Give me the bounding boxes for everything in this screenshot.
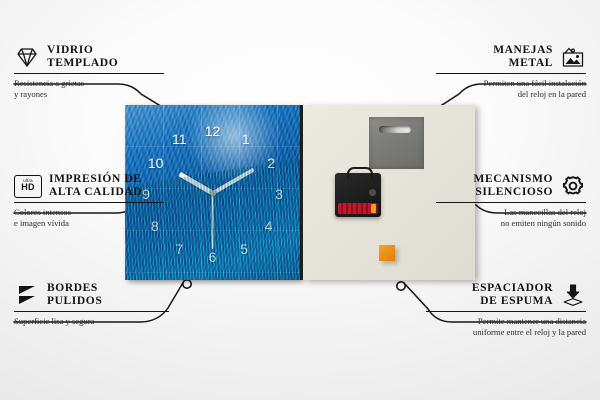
callout-title-line2: ALTA CALIDAD [49,186,142,199]
callout-desc-line1: Permite mantener una distancia [426,316,586,327]
callout-desc-line1: Resistencia a grietas [14,78,164,89]
hour-hand [178,171,213,194]
battery-tip [371,204,376,213]
numeral-1: 1 [242,132,250,146]
node-espaciador [397,282,405,290]
second-hand [212,193,214,249]
callout-desc-line2: del reloj en la pared [436,89,586,100]
callout-mecanismo-silencioso: MECANISMO SILENCIOSO Las manecillas del … [436,173,586,228]
mechanism-hanging-loop [347,167,373,179]
hands-center-cap [210,190,216,196]
callout-manejas-metal: MANEJAS METAL Permiten una fácil instala… [436,44,586,99]
numeral-10: 10 [148,156,164,170]
callout-title-line2: TEMPLADO [47,57,118,70]
callout-rule [14,202,164,203]
callout-desc-line2: y rayones [14,89,164,100]
callout-rule [436,73,586,74]
foam-spacer-arrow-icon [560,283,586,307]
callout-title-line1: ESPACIADOR [426,282,553,295]
numeral-7: 7 [175,242,183,256]
callout-header: VIDRIO TEMPLADO [14,44,164,70]
polished-edges-icon [14,283,40,307]
metal-hanger-plate [369,117,424,169]
callout-header: MECANISMO SILENCIOSO [436,173,586,199]
node-bordes [183,280,191,288]
callout-title-line2: METAL [436,57,553,70]
callout-title-line1: IMPRESIÓN DE [49,173,142,186]
diamond-icon [14,45,40,69]
hanger-keyhole-slot [379,126,411,133]
callout-header: MANEJAS METAL [436,44,586,70]
numeral-4: 4 [265,219,273,233]
product-photo: 12 1 2 3 4 5 6 7 8 9 10 11 [125,105,475,280]
callout-header: ultra HD IMPRESIÓN DE ALTA CALIDAD [14,173,164,199]
wall-hanging-frame-icon [560,45,586,69]
callout-title-line1: BORDES [47,282,102,295]
mechanism-set-dial [369,189,376,196]
callout-title-line2: DE ESPUMA [426,295,553,308]
clock-mechanism-box [335,173,381,217]
callout-impresion-alta-calidad: ultra HD IMPRESIÓN DE ALTA CALIDAD Color… [14,173,164,228]
minute-hand [212,167,255,194]
callout-title-line1: MANEJAS [436,44,553,57]
callout-desc-line1: Colores intensos [14,207,164,218]
callout-desc-line1: Permiten una fácil instalación [436,78,586,89]
infographic-canvas: 12 1 2 3 4 5 6 7 8 9 10 11 [0,0,600,400]
callout-title-line2: PULIDOS [47,295,102,308]
callout-rule [14,73,164,74]
callout-title-line1: MECANISMO [436,173,553,186]
callout-desc-line2: no emiten ningún sonido [436,218,586,229]
numeral-5: 5 [240,242,248,256]
callout-desc-line2: e imagen vívida [14,218,164,229]
callout-rule [14,311,169,312]
callout-espaciador-espuma: ESPACIADOR DE ESPUMA Permite mantener un… [426,282,586,337]
callout-title-line2: SILENCIOSO [436,186,553,199]
numeral-3: 3 [275,187,283,201]
numeral-6: 6 [209,250,217,264]
callout-desc-line1: Las manecillas del reloj [436,207,586,218]
numeral-11: 11 [172,132,187,146]
ultra-hd-icon: ultra HD [14,175,42,198]
callout-desc-line1: Superficie lisa y segura [14,316,169,327]
callout-desc-line2: uniforme entre el reloj y la pared [426,327,586,338]
callout-vidrio-templado: VIDRIO TEMPLADO Resistencia a grietas y … [14,44,164,99]
callout-header: BORDES PULIDOS [14,282,169,308]
callout-bordes-pulidos: BORDES PULIDOS Superficie lisa y segura [14,282,169,327]
foam-spacer-pad [379,245,395,261]
numeral-2: 2 [267,156,275,170]
numeral-12: 12 [205,124,221,138]
callout-title-line1: VIDRIO [47,44,118,57]
gear-icon [560,174,586,198]
ultra-hd-large-text: HD [21,183,35,193]
callout-rule [436,202,586,203]
callout-header: ESPACIADOR DE ESPUMA [426,282,586,308]
callout-rule [426,311,586,312]
